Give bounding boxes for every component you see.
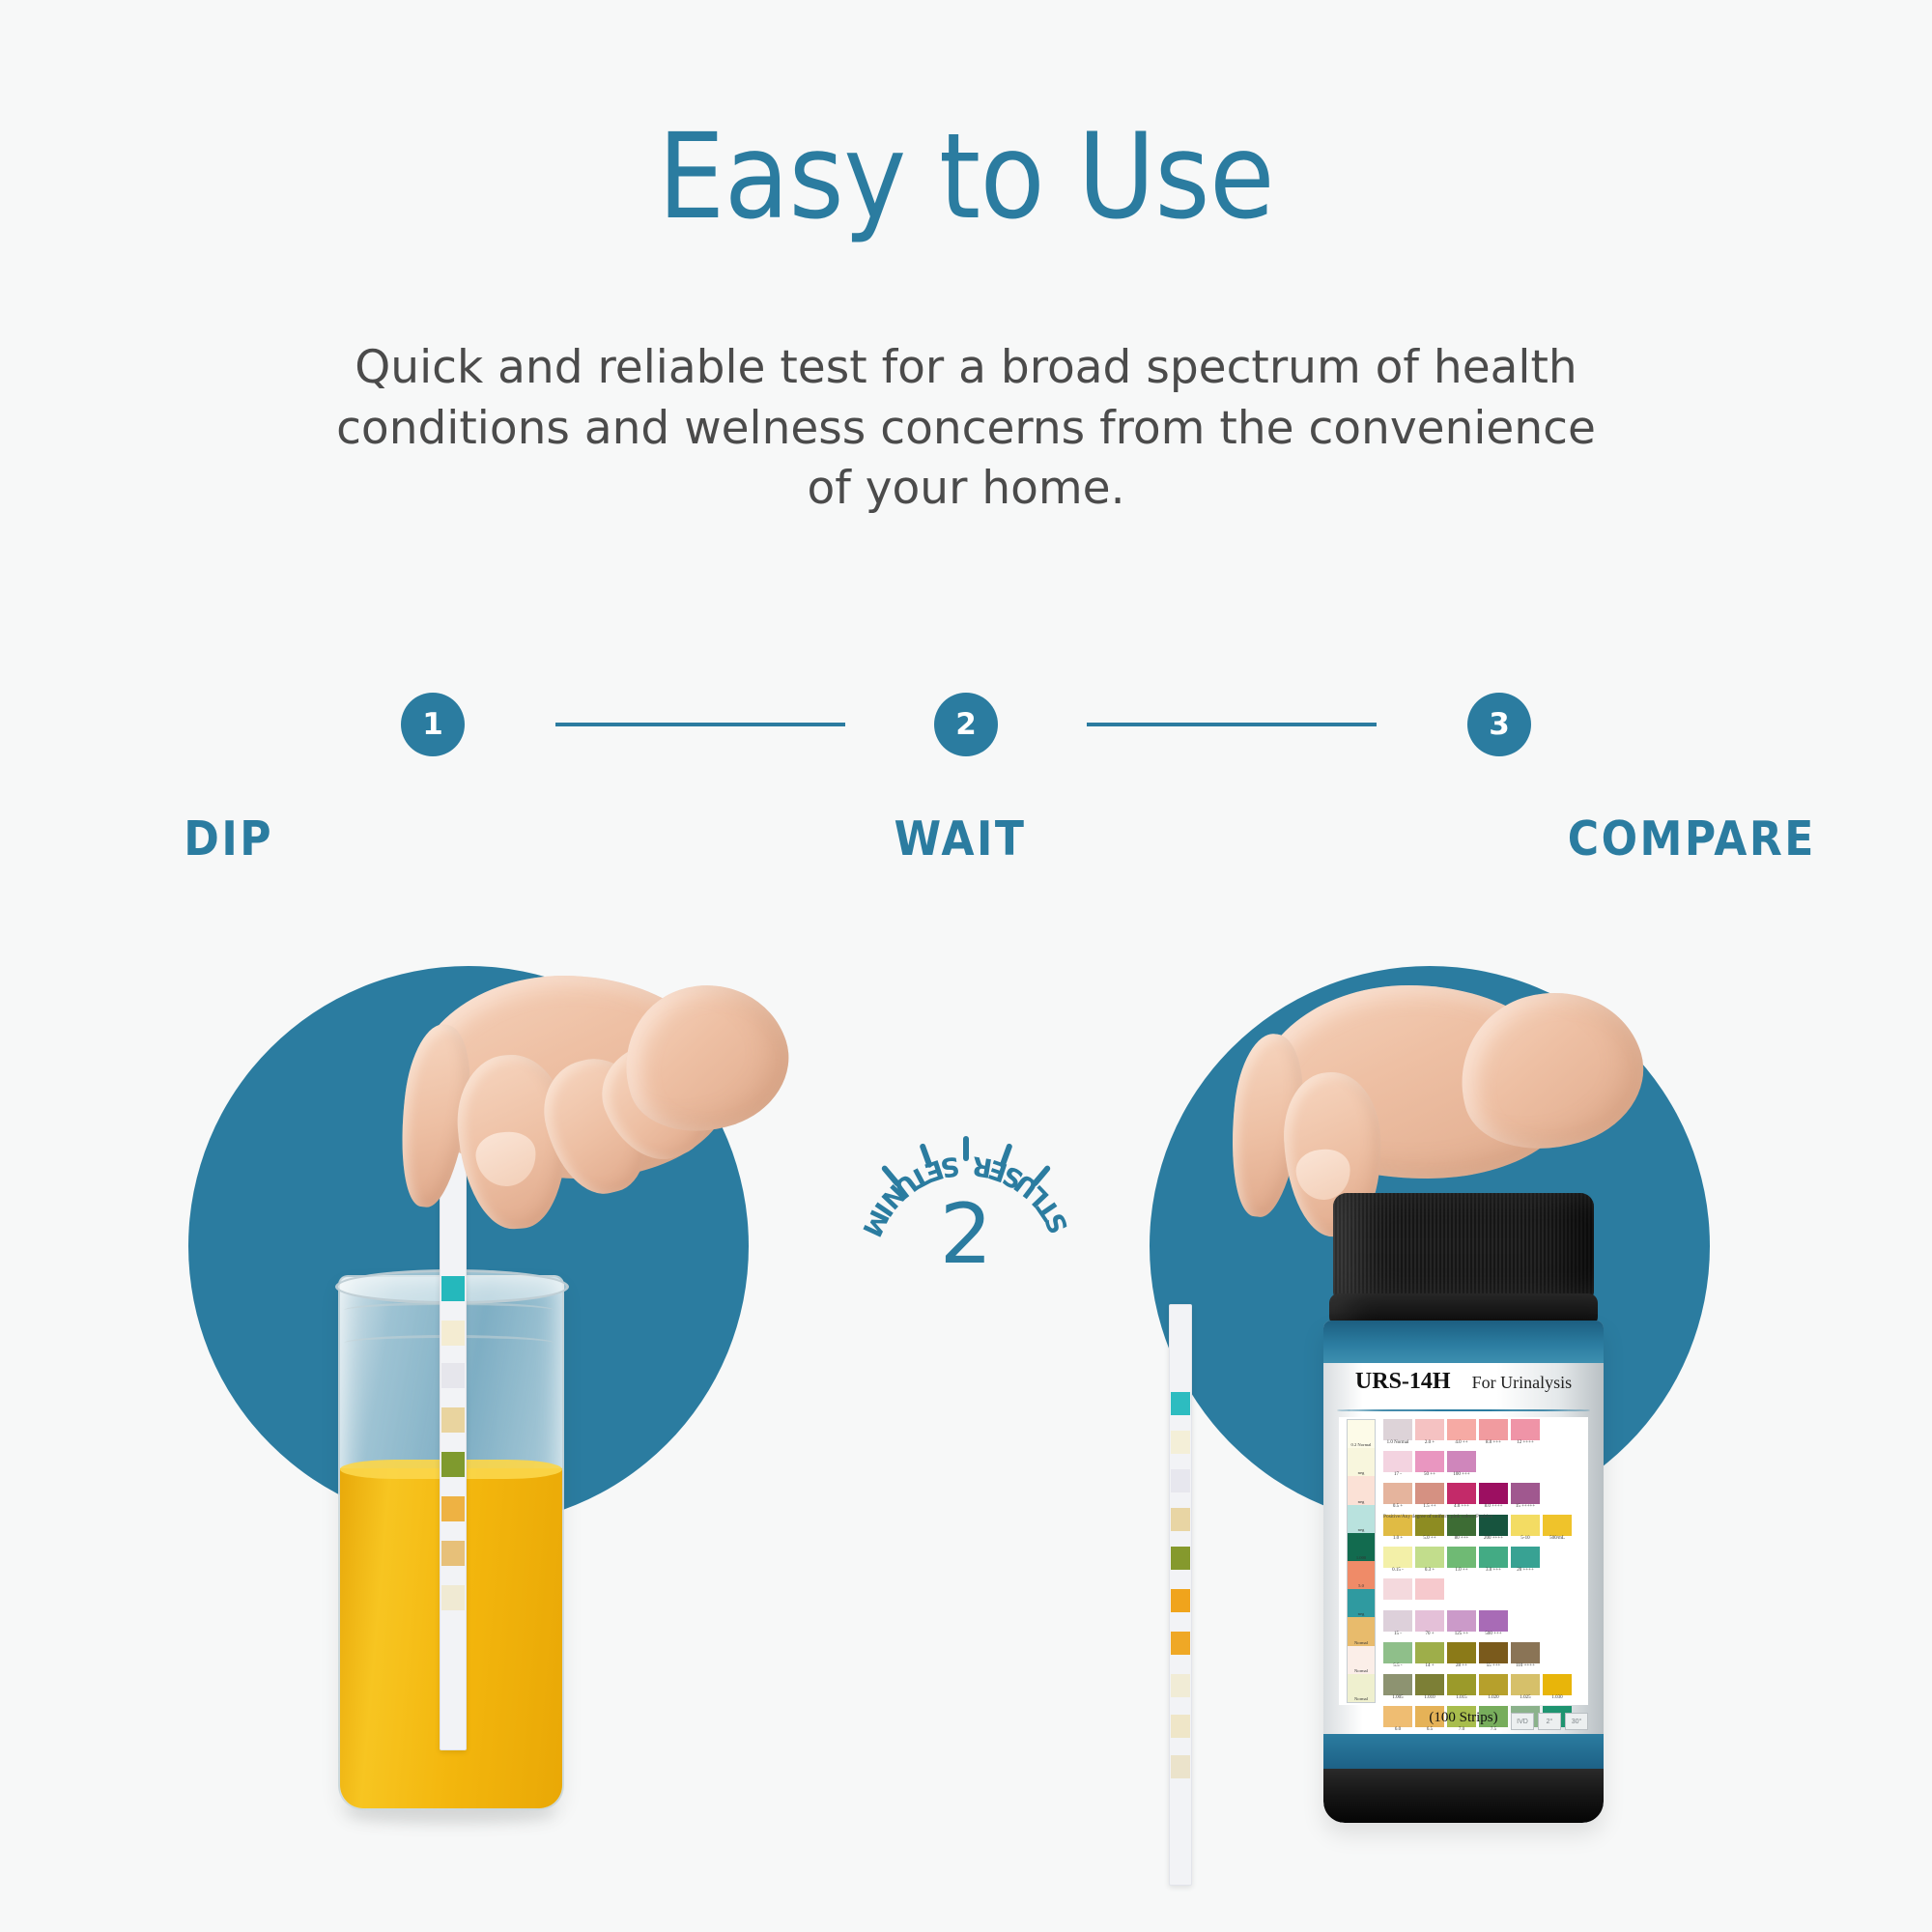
colour-swatch: 1.010	[1415, 1674, 1444, 1695]
colour-swatch: 1.020	[1479, 1674, 1508, 1695]
colour-swatch: 1.015	[1447, 1674, 1476, 1695]
swatch-label: 12 ++++	[1507, 1440, 1544, 1445]
page-subtitle: Quick and reliable test for a broad spec…	[328, 338, 1604, 520]
step-label-compare: COMPARE	[1326, 811, 1932, 867]
reference-cell: neg	[1348, 1589, 1375, 1617]
strip-pad	[1171, 1715, 1190, 1738]
colour-swatch: 8.0 +++	[1479, 1419, 1508, 1440]
step-label-wait: WAIT	[594, 811, 1325, 867]
colour-swatch: 0.5 +	[1383, 1483, 1412, 1504]
colour-swatch: 1.025	[1511, 1674, 1540, 1695]
reference-cell-label: neg	[1348, 1499, 1375, 1504]
colour-swatch	[1415, 1578, 1444, 1600]
step-number-2: 2	[955, 707, 977, 742]
colour-swatch: 1.030	[1543, 1674, 1572, 1695]
strip-pad	[1171, 1632, 1190, 1655]
swatch-label: 1.030	[1539, 1695, 1576, 1700]
chart-note: Positive/Any degree of uniform pink colo…	[1383, 1514, 1492, 1520]
strip-pad	[1171, 1755, 1190, 1778]
timer-arc-letter: S	[938, 1150, 961, 1182]
swatch-label: 110 ++++	[1507, 1663, 1544, 1668]
step-circles-row: 1 2 3	[0, 676, 1932, 773]
regulatory-icon: IVD	[1511, 1713, 1534, 1730]
test-strip-dipped	[440, 1130, 467, 1750]
dip-illustration	[169, 966, 768, 1855]
colour-swatch: 20 ++++	[1511, 1547, 1540, 1568]
colour-swatch: 5-10	[1511, 1515, 1540, 1536]
bottle-cap	[1333, 1193, 1594, 1299]
colour-swatch	[1383, 1578, 1412, 1600]
strip-pad	[1171, 1392, 1190, 1415]
reference-cell: neg	[1348, 1476, 1375, 1504]
strip-pad	[1171, 1469, 1190, 1492]
reference-cell: neg	[1348, 1448, 1375, 1476]
step-connector-1-2	[555, 723, 845, 726]
strip-pad	[1171, 1508, 1190, 1531]
page-title: Easy to Use	[0, 118, 1932, 236]
strip-pad	[1171, 1674, 1190, 1697]
colour-swatch: 3.0 +++	[1479, 1547, 1508, 1568]
colour-swatch: 4.0 +++	[1447, 1483, 1476, 1504]
colour-comparison-chart: 0.2 Normalnegnegneg1.0005.0negNormalNorm…	[1339, 1417, 1588, 1705]
colour-swatch: 100 +++	[1447, 1451, 1476, 1472]
colour-swatch: 8.0 ++++	[1479, 1483, 1508, 1504]
colour-swatch: 55 +++	[1479, 1642, 1508, 1663]
colour-swatch: 1.0 ++	[1447, 1547, 1476, 1568]
strip-pad	[441, 1363, 465, 1388]
colour-swatch: 50 ++	[1415, 1451, 1444, 1472]
strip-pad	[441, 1321, 465, 1346]
reference-cell-label: neg	[1348, 1470, 1375, 1475]
reference-cell: 1.000	[1348, 1533, 1375, 1561]
label-band-bottom	[1323, 1734, 1604, 1769]
colour-swatch: 15 +++++	[1511, 1483, 1540, 1504]
swatch-label: 20 ++++	[1507, 1568, 1544, 1573]
colour-swatch: 1.0 Normal	[1383, 1419, 1412, 1440]
strip-pad	[441, 1452, 465, 1477]
step-circle-1: 1	[401, 693, 465, 756]
step-circle-3: 3	[1467, 693, 1531, 756]
strip-pad	[1171, 1589, 1190, 1612]
swatch-row: 0.15 -0.3 +1.0 ++3.0 +++20 ++++	[1383, 1547, 1584, 1578]
colour-swatch: 1.5 ++	[1415, 1483, 1444, 1504]
step-number-3: 3	[1489, 707, 1510, 742]
colour-swatch: 12 ++++	[1511, 1419, 1540, 1440]
reference-cell-label: Normal	[1348, 1696, 1375, 1701]
regulatory-icon: 30°	[1565, 1713, 1588, 1730]
label-divider	[1337, 1409, 1590, 1411]
swatch-row: 17 -50 ++100 +++	[1383, 1451, 1584, 1483]
steps-strip: 1 2 3 DIP WAIT COMPARE	[0, 676, 1932, 918]
step-label-dip: DIP	[0, 811, 594, 867]
strip-pad	[441, 1407, 465, 1433]
colour-swatch: 2.0 +	[1415, 1419, 1444, 1440]
strip-pad	[441, 1276, 465, 1301]
reference-cell-label: Normal	[1348, 1668, 1375, 1673]
timer-arc-letter	[961, 1151, 970, 1180]
intended-use: For Urinalysis	[1472, 1373, 1573, 1393]
reference-cell-label: Normal	[1348, 1640, 1375, 1645]
reference-cell: Normal	[1348, 1674, 1375, 1702]
reference-strip-column: 0.2 Normalnegnegneg1.0005.0negNormalNorm…	[1347, 1419, 1376, 1703]
reference-cell: 0.2 Normal	[1348, 1420, 1375, 1448]
bottle-body: URS-14H For Urinalysis 0.2 Normalnegnegn…	[1323, 1321, 1604, 1823]
swatch-row	[1383, 1578, 1584, 1610]
step-connector-2-3	[1087, 723, 1377, 726]
strip-pad	[441, 1496, 465, 1521]
reference-cell: Normal	[1348, 1617, 1375, 1645]
swatch-row: 1.0 Normal2.0 +4.0 ++8.0 +++12 ++++	[1383, 1419, 1584, 1451]
step-circle-2: 2	[934, 693, 998, 756]
reference-cell-label: neg	[1348, 1611, 1375, 1616]
colour-swatch: 500 +++	[1479, 1610, 1508, 1632]
swatch-label: 100 +++	[1443, 1472, 1480, 1477]
colour-swatch: 0.15 -	[1383, 1547, 1412, 1568]
compare-illustration: URS-14H For Urinalysis 0.2 Normalnegnegn…	[1140, 966, 1758, 1855]
strip-pad	[1171, 1431, 1190, 1454]
strip-pad	[441, 1585, 465, 1610]
regulatory-icon: 2°	[1538, 1713, 1561, 1730]
regulatory-icons: IVD2°30°	[1511, 1713, 1588, 1730]
label-band-top	[1323, 1321, 1604, 1363]
colour-swatch: 15 -	[1383, 1610, 1412, 1632]
swatch-row: 15 -70 +125 ++500 +++	[1383, 1610, 1584, 1642]
colour-swatch: 125 ++	[1447, 1610, 1476, 1632]
colour-swatch: 70 +	[1415, 1610, 1444, 1632]
timer-badge: 2 MINUTES RESULTS	[833, 1132, 1099, 1399]
reference-cell-label: 1.000	[1348, 1555, 1375, 1560]
reference-cell: 5.0	[1348, 1561, 1375, 1589]
colour-swatch: 17 -	[1383, 1451, 1412, 1472]
strip-pad	[441, 1541, 465, 1566]
reference-cell: neg	[1348, 1505, 1375, 1533]
label-heading: URS-14H For Urinalysis	[1323, 1369, 1604, 1395]
colour-swatch: 110 ++++	[1511, 1642, 1540, 1663]
colour-swatch: 5.5 -	[1383, 1642, 1412, 1663]
reference-cell: Normal	[1348, 1646, 1375, 1674]
test-strip-bottle: URS-14H For Urinalysis 0.2 Normalnegnegn…	[1323, 1193, 1604, 1840]
swatch-label: 500 +++	[1475, 1632, 1512, 1636]
reference-cell-label: 0.2 Normal	[1348, 1442, 1375, 1447]
brand-name: URS-14H	[1355, 1369, 1451, 1395]
colour-swatch: 14 +	[1415, 1642, 1444, 1663]
reference-cell-label: 5.0	[1348, 1583, 1375, 1588]
strip-pad	[1171, 1547, 1190, 1570]
colour-swatch: 0.3 +	[1415, 1547, 1444, 1568]
swatch-row: 0.5 +1.5 ++4.0 +++8.0 ++++15 +++++	[1383, 1483, 1584, 1515]
swatch-row: 1.0051.0101.0151.0201.0251.030	[1383, 1674, 1584, 1706]
step-number-1: 1	[422, 707, 443, 742]
colour-swatch: 1.005	[1383, 1674, 1412, 1695]
colour-swatch: 500/mL	[1543, 1515, 1572, 1536]
easy-to-use-infographic: Easy to Use Quick and reliable test for …	[0, 0, 1932, 1932]
swatch-row: 5.5 -14 +28 ++55 +++110 ++++	[1383, 1642, 1584, 1674]
step-labels-row: DIP WAIT COMPARE	[0, 811, 1932, 867]
swatch-label: 15 +++++	[1507, 1504, 1544, 1509]
reference-cell-label: neg	[1348, 1527, 1375, 1532]
colour-swatch: 4.0 ++	[1447, 1419, 1476, 1440]
colour-swatch: 28 ++	[1447, 1642, 1476, 1663]
swatch-label: 500/mL	[1539, 1536, 1576, 1541]
bottle-base	[1323, 1769, 1604, 1823]
test-strip-compare	[1169, 1304, 1192, 1886]
